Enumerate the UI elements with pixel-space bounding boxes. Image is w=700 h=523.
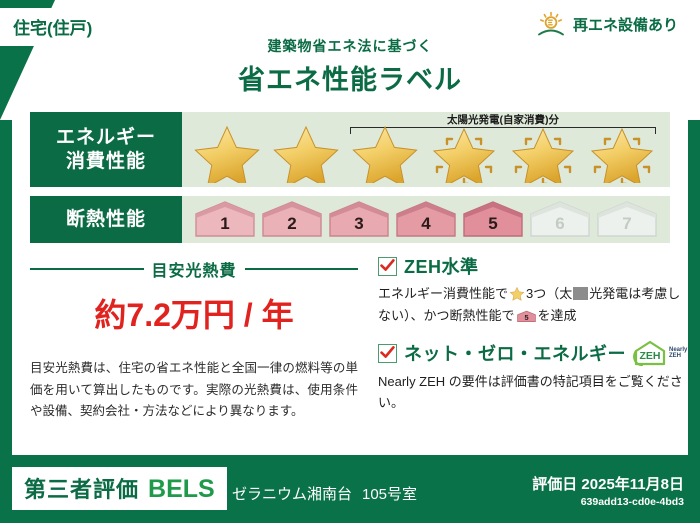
insulation-level-3: 3 xyxy=(328,201,390,238)
claim-zeh-star-count: 3つ（太 xyxy=(526,286,572,301)
insulation-level-7: 7 xyxy=(596,201,658,238)
house-type-tag: 住宅(住戸) xyxy=(0,8,105,46)
claims-section: ZEH水準 エネルギー消費性能で3つ（太光発電は考慮しない）、かつ断熱性能で5を… xyxy=(366,253,687,458)
star-3 xyxy=(348,123,422,183)
star-5-solar xyxy=(506,123,580,183)
cost-rule-left xyxy=(30,268,144,270)
claim-zeh-header: ZEH水準 xyxy=(378,253,687,279)
insulation-level-4: 4 xyxy=(395,201,457,238)
utility-cost-note: 目安光熱費は、住宅の省エネ性能と全国一律の燃料等の単価を用いて算出したものです。… xyxy=(30,358,358,423)
zeh-standard-checkbox xyxy=(378,257,397,276)
bels-en-label: BELS xyxy=(148,475,215,504)
net-zero-checkbox xyxy=(378,344,397,363)
cost-rule-right xyxy=(245,268,359,270)
energy-label-line2: 消費性能 xyxy=(66,150,146,173)
insulation-level-6-number: 6 xyxy=(555,214,564,238)
insulation-level-2-number: 2 xyxy=(287,214,296,238)
insulation-level-4-number: 4 xyxy=(421,214,430,238)
star-2 xyxy=(269,123,343,183)
energy-label-line1: エネルギー xyxy=(56,126,156,149)
insulation-level-3-number: 3 xyxy=(354,214,363,238)
claim-nze-title: ネット・ゼロ・エネルギー xyxy=(404,340,626,366)
redacted-character xyxy=(573,287,588,300)
zeh-house-icon: ZEH xyxy=(633,340,667,367)
renewable-badge-label: 再エネ設備あり xyxy=(573,14,678,35)
property-name: ゼラニウム湘南台 xyxy=(232,483,352,504)
title-main: 省エネ性能ラベル xyxy=(0,58,700,97)
property-room-number: 105号室 xyxy=(362,483,417,504)
check-icon xyxy=(379,344,396,361)
svg-text:5: 5 xyxy=(524,313,528,322)
cost-heading-text: 目安光熱費 xyxy=(152,257,237,281)
insulation-level-1-number: 1 xyxy=(220,214,229,238)
bels-certification-box: 第三者評価 BELS xyxy=(12,467,227,510)
star-6-solar xyxy=(585,123,659,183)
svg-text:ZEH: ZEH xyxy=(640,350,661,362)
insulation-level-2: 2 xyxy=(261,201,323,238)
energy-performance-body: 太陽光発電(自家消費)分 xyxy=(182,112,670,187)
insulation-level-6: 6 xyxy=(529,201,591,238)
inline-star-icon xyxy=(509,285,525,301)
claim-net-zero-energy: ネット・ゼロ・エネルギー ZEH Nearly ZEH xyxy=(378,340,687,415)
utility-cost-heading: 目安光熱費 xyxy=(30,257,358,281)
insulation-level-5-number: 5 xyxy=(488,214,497,238)
bels-jp-label: 第三者評価 xyxy=(24,472,139,504)
claim-zeh-title: ZEH水準 xyxy=(404,253,479,279)
utility-cost-value: 約7.2万円 / 年 xyxy=(30,290,358,336)
insulation-performance-body: 1 2 3 xyxy=(182,196,670,243)
utility-cost-section: 目安光熱費 約7.2万円 / 年 目安光熱費は、住宅の省エネ性能と全国一律の燃料… xyxy=(30,253,366,458)
evaluation-info: 評価日 2025年11月8日 639add13-cd0e-4bd3 xyxy=(532,473,684,508)
evaluation-date: 評価日 2025年11月8日 xyxy=(532,473,684,494)
main-card: エネルギー 消費性能 太陽光発電(自家消費)分 xyxy=(12,100,688,455)
star-rating-group xyxy=(182,123,659,183)
insulation-level-5: 5 xyxy=(462,201,524,238)
claim-zeh-text-1: エネルギー消費性能で xyxy=(378,286,508,301)
energy-performance-label: エネルギー 消費性能 xyxy=(30,112,182,187)
zeh-logo: ZEH Nearly ZEH xyxy=(633,340,687,367)
label-frame: 住宅(住戸) 再エネ設備あり 建築物省エネ法に基づく 省エネ性能ラベル エネルギ… xyxy=(0,0,700,523)
sun-energy-icon xyxy=(536,11,566,37)
zeh-logo-sub2: ZEH xyxy=(669,353,687,359)
insulation-performance-label: 断熱性能 xyxy=(30,196,182,243)
evaluation-id: 639add13-cd0e-4bd3 xyxy=(532,496,684,508)
claim-zeh-text-3: を達成 xyxy=(538,308,577,323)
inline-house-level-icon: 5 xyxy=(517,309,536,331)
insulation-level-7-number: 7 xyxy=(622,214,631,238)
check-icon xyxy=(379,257,396,274)
star-4-solar xyxy=(427,123,501,183)
insulation-performance-row: 断熱性能 1 2 xyxy=(30,196,670,243)
star-1 xyxy=(190,123,264,183)
claim-nze-body: Nearly ZEH の要件は評価書の特記項目をご覧ください。 xyxy=(378,371,687,415)
insulation-level-1: 1 xyxy=(194,201,256,238)
footer-bar: 第三者評価 BELS ゼラニウム湘南台 105号室 評価日 2025年11月8日… xyxy=(0,461,700,523)
renewable-energy-badge: 再エネ設備あり xyxy=(527,6,690,42)
energy-performance-row: エネルギー 消費性能 太陽光発電(自家消費)分 xyxy=(30,112,670,187)
claim-nze-header: ネット・ゼロ・エネルギー ZEH Nearly ZEH xyxy=(378,340,687,367)
claim-zeh-body: エネルギー消費性能で3つ（太光発電は考慮しない）、かつ断熱性能で5を達成 xyxy=(378,283,687,331)
lower-content: 目安光熱費 約7.2万円 / 年 目安光熱費は、住宅の省エネ性能と全国一律の燃料… xyxy=(30,253,670,458)
insulation-level-group: 1 2 3 xyxy=(182,201,658,238)
claim-zeh-standard: ZEH水準 エネルギー消費性能で3つ（太光発電は考慮しない）、かつ断熱性能で5を… xyxy=(378,253,687,331)
